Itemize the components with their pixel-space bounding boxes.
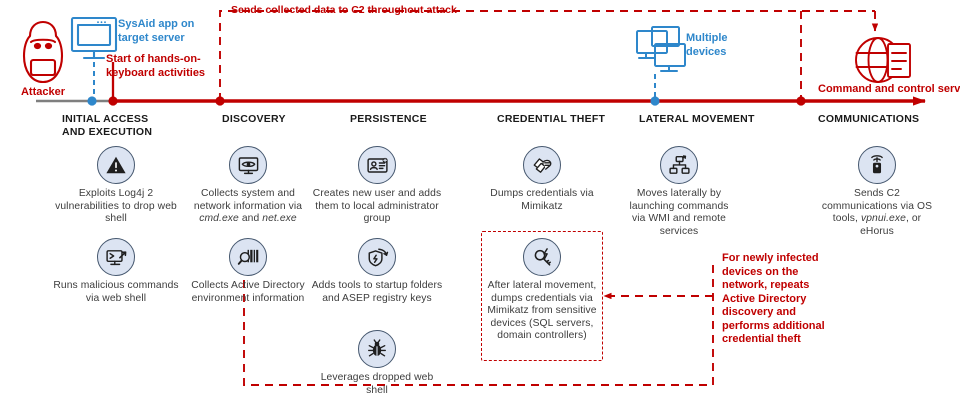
network-nodes-icon [660,146,698,184]
step-caption: Collects Active Directory environment in… [182,280,314,305]
step-caption: Sends C2 communications via OS tools, vp… [821,188,933,238]
magnifier-directory-icon [229,238,267,276]
step-caption: Collects system and network information … [182,188,314,226]
caption-code: net.exe [262,213,296,224]
step-caption: Moves laterally by launching commands vi… [624,188,734,238]
attack-chain-diagram: Attacker SysAid app on target server Sta… [0,0,960,404]
shield-refresh-icon [358,238,396,276]
step-dumps-credentials-mimikatz: Dumps credentials via Mimikatz [476,146,608,213]
bug-icon [358,330,396,368]
step-collects-active-directory-info: Collects Active Directory environment in… [182,238,314,305]
monitor-command-icon [97,238,135,276]
step-caption: Dumps credentials via Mimikatz [476,188,608,213]
step-exploits-log4j: Exploits Log4j 2 vulnerabilities to drop… [50,146,182,226]
key-bolt-icon [523,238,561,276]
multiple-devices-label: Multiple devices [686,32,756,59]
node-communications [796,96,805,105]
caption-code: cmd.exe [199,213,239,224]
multiple-monitors-icon [637,27,685,71]
caption-code: vpnui.exe [861,213,906,224]
c2-exfil-path [220,11,875,101]
user-card-icon [358,146,396,184]
phase-label-lateral-movement: LATERAL MOVEMENT [639,113,769,126]
step-post-lateral-credential-dump: After lateral movement, dumps credential… [476,238,608,343]
phase-label-communications: COMMUNICATIONS [818,113,948,126]
step-caption: Runs malicious commands via web shell [50,280,182,305]
step-caption: Adds tools to startup folders and ASEP r… [311,280,443,305]
step-collects-system-network-info: Collects system and network information … [182,146,314,226]
monitor-eye-icon [229,146,267,184]
node-lateral-movement [650,96,659,105]
c2-server-label: Command and control server [818,83,960,95]
step-leverages-dropped-web-shell: Leverages dropped web shell [311,330,443,397]
globe-server-icon [856,38,910,82]
step-adds-tools-to-startup: Adds tools to startup folders and ASEP r… [311,238,443,305]
step-caption: Leverages dropped web shell [311,372,443,397]
step-moves-laterally-wmi: Moves laterally by launching commands vi… [624,146,734,238]
step-creates-new-user: Creates new user and adds them to local … [311,146,443,226]
warning-triangle-icon [97,146,135,184]
reinfection-loop-label: For newly infected devices on the networ… [722,252,840,347]
phase-label-persistence: PERSISTENCE [350,113,470,126]
step-caption: Creates new user and adds them to local … [311,188,443,226]
transmitter-icon [858,146,896,184]
hand-documents-icon [523,146,561,184]
attacker-label: Attacker [13,86,73,98]
target-server-label: SysAid app on target server [118,18,214,45]
phase-label-credential-theft: CREDENTIAL THEFT [497,113,627,126]
phase-label-initial-access: INITIAL ACCESS AND EXECUTION [62,113,182,138]
c2-exfil-label: Sends collected data to C2 throughout at… [231,4,457,16]
hands-on-keyboard-label: Start of hands-on- keyboard activities [106,53,214,80]
phase-label-discovery: DISCOVERY [222,113,342,126]
monitor-icon [72,18,116,58]
hooded-attacker-icon [24,22,62,82]
step-runs-malicious-commands: Runs malicious commands via web shell [50,238,182,305]
step-caption: Exploits Log4j 2 vulnerabilities to drop… [50,188,182,226]
caption-part: and [239,213,262,224]
node-initial-access-blue [87,96,96,105]
step-caption: After lateral movement, dumps credential… [476,280,608,343]
step-sends-c2-communications: Sends C2 communications via OS tools, vp… [821,146,933,238]
caption-part: Collects system and network information … [194,188,302,212]
